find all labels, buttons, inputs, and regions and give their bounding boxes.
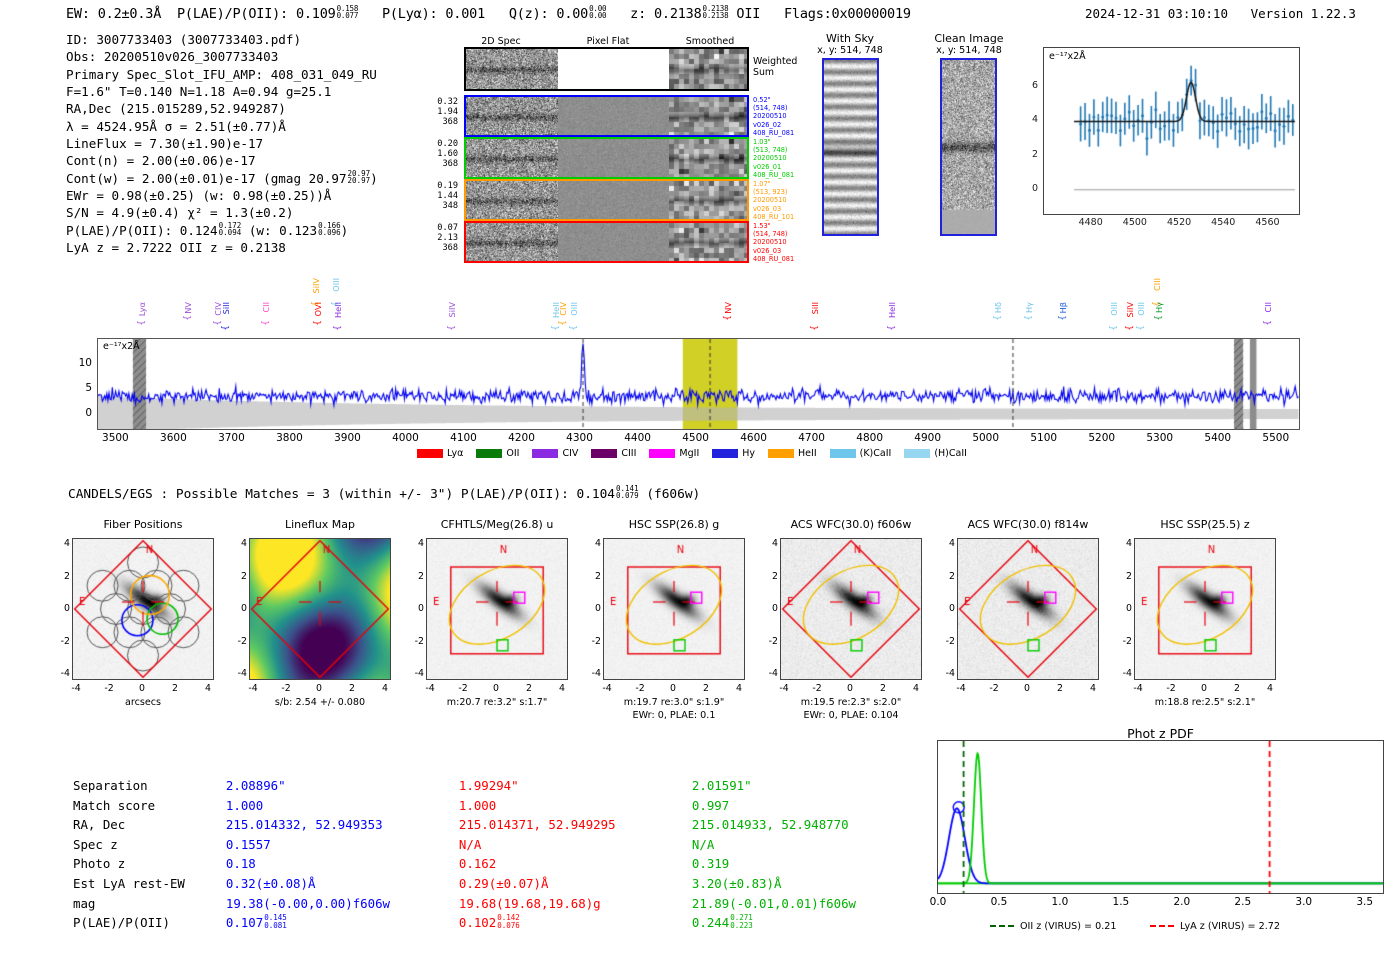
table-row: mag19.38(-0.00,0.00)f606w19.68(19.68,19.… xyxy=(72,894,924,914)
header-qz-lo: 0.00 xyxy=(589,11,606,20)
legend-swatch xyxy=(591,449,617,458)
row-right-value: 20200510 xyxy=(753,112,813,120)
spectrum-line-label: CIII xyxy=(1152,278,1162,291)
header-qz-value: 0.00 xyxy=(556,6,588,22)
table-row-label: Match score xyxy=(72,796,225,816)
cutout-y-tick: 2 xyxy=(241,571,247,582)
row-left-value: 0.07 xyxy=(424,223,458,233)
cutout-y-tick: -2 xyxy=(769,636,778,647)
cutout-image[interactable] xyxy=(72,538,214,680)
cutout-y-tick: 4 xyxy=(1126,538,1132,549)
cutout-x-tick: -4 xyxy=(418,683,442,694)
cutout-subtitle: m:19.7 re:3.0" s:1.9" xyxy=(591,697,757,708)
info-line-contw: Cont(w) = 2.00(±0.01)e-17 (gmag 20.9720.… xyxy=(66,170,378,187)
spec2d-row xyxy=(464,137,749,179)
row-pixelflat-image xyxy=(558,139,669,177)
spectrum-line-brace: { xyxy=(261,320,271,326)
info-line-lambda: λ = 4524.95Å σ = 2.51(±0.77)Å xyxy=(66,118,378,135)
row-pixelflat-image xyxy=(558,181,669,219)
row-right-value: 408_RU_081 xyxy=(753,171,813,179)
cutout-x-tick: -2 xyxy=(451,683,475,694)
cutout-y-tick: 2 xyxy=(1126,571,1132,582)
row-right-value: 20200510 xyxy=(753,154,813,162)
table-cell: 2.08896" xyxy=(225,776,458,796)
spectrum-line-brace: { xyxy=(331,301,341,307)
panel-title-pixelflat: Pixel Flat xyxy=(573,36,643,47)
info-line-id: ID: 3007733403 (3007733403.pdf) xyxy=(66,31,378,48)
spectrum-legend-item: OII xyxy=(476,448,519,459)
spec2d-row xyxy=(464,221,749,263)
cutout-y-tick: -2 xyxy=(238,636,247,647)
with-sky-image xyxy=(822,58,879,236)
cutout-title: Fiber Positions xyxy=(60,518,226,531)
cutout-y-ticks: 420-2-4 xyxy=(935,538,955,680)
spectrum-y-tick: 5 xyxy=(72,382,92,394)
header-z-species: OII xyxy=(736,6,760,22)
row-right-values: 1.03"(513, 748)20200510v026_01408_RU_081 xyxy=(753,138,813,179)
table-cell-lo: 0.076 xyxy=(497,921,520,930)
table-row-label: RA, Dec xyxy=(72,815,225,835)
spectrum-legend-item: HeII xyxy=(768,448,817,459)
cutout-y-tick: 0 xyxy=(949,603,955,614)
cutout-y-ticks: 420-2-4 xyxy=(581,538,601,680)
row-smoothed-image xyxy=(669,223,747,261)
spectrum-line-brace: { xyxy=(333,325,343,331)
table-row: P(LAE)/P(OII)0.1070.1450.0810.1020.1420.… xyxy=(72,913,924,933)
header-timestamp: 2024-12-31 03:10:10 xyxy=(1085,6,1228,21)
pdf-x-tick: 0.0 xyxy=(922,896,954,908)
info-line-plae: P(LAE)/P(OII): 0.1240.1720.094 (w: 0.123… xyxy=(66,222,378,239)
row-left-values: 0.321.94368 xyxy=(424,97,458,128)
row-left-value: 368 xyxy=(424,159,458,169)
cutout-x-ticks: -4-2024 xyxy=(957,683,1099,695)
cutout-x-tick: 0 xyxy=(130,683,154,694)
cutout-image[interactable] xyxy=(1134,538,1276,680)
table-cell: 0.29(±0.07)Å xyxy=(458,874,691,894)
row-smoothed-image xyxy=(669,139,747,177)
header-qz-label: Q(z): xyxy=(509,6,549,22)
spectrum-unit-label: e⁻¹⁷x2Å xyxy=(103,341,140,352)
table-cell: 1.99294" xyxy=(458,776,691,796)
cutout-x-tick: 0 xyxy=(1015,683,1039,694)
cutout-y-tick: -4 xyxy=(415,668,424,679)
cutout-x-ticks: -4-2024 xyxy=(1134,683,1276,695)
row-2dspec-image xyxy=(466,97,558,135)
cutout-y-tick: 2 xyxy=(418,571,424,582)
row-2dspec-image xyxy=(466,181,558,219)
pdf-x-tick: 3.0 xyxy=(1288,896,1320,908)
line-plot-x-tick: 4540 xyxy=(1209,217,1237,228)
cutout-y-ticks: 420-2-4 xyxy=(227,538,247,680)
legend-swatch xyxy=(904,449,930,458)
table-row: Separation2.08896"1.99294"2.01591" xyxy=(72,776,924,796)
cutout-x-tick: 4 xyxy=(196,683,220,694)
spectrum-line-brace: { xyxy=(1109,325,1119,331)
cutout-x-tick: 4 xyxy=(904,683,928,694)
match-table: Separation2.08896"1.99294"2.01591"Match … xyxy=(72,776,924,933)
cutout-subtitle: m:18.8 re:2.5" s:2.1" xyxy=(1122,697,1288,708)
legend-label: MgII xyxy=(679,448,699,459)
cutout-y-tick: 4 xyxy=(595,538,601,549)
table-cell: 0.319 xyxy=(691,854,924,874)
legend-label: (K)CaII xyxy=(860,448,892,459)
header-timestamp-version: 2024-12-31 03:10:10 Version 1.22.3 xyxy=(1085,6,1356,21)
table-row-label: Est LyA rest-EW xyxy=(72,874,225,894)
cutout-y-tick: -4 xyxy=(946,668,955,679)
legend-label: CIV xyxy=(562,448,578,459)
cutout-x-ticks: -4-2024 xyxy=(72,683,214,695)
row-right-value: 408_RU_081 xyxy=(753,129,813,137)
cutout-title: ACS WFC(30.0) f606w xyxy=(768,518,934,531)
info-line-specslot: Primary Spec_Slot_IFU_AMP: 408_031_049_R… xyxy=(66,66,378,83)
cutout-x-tick: 2 xyxy=(517,683,541,694)
info-plae-w-lo: 0.096 xyxy=(318,228,341,237)
header-flags: Flags:0x00000019 xyxy=(784,6,911,22)
spectrum-legend-item: Lyα xyxy=(417,448,463,459)
table-row: Match score1.0001.0000.997 xyxy=(72,796,924,816)
table-cell: 215.014371, 52.949295 xyxy=(458,815,691,835)
spectrum-line-brace: { xyxy=(183,315,193,321)
header-plae-label: P(LAE)/P(OII): xyxy=(177,6,288,22)
table-cell: 0.162 xyxy=(458,854,691,874)
cutout-y-ticks: 420-2-4 xyxy=(1112,538,1132,680)
legend-swatch xyxy=(417,449,443,458)
with-sky-subtitle: x, y: 514, 748 xyxy=(800,45,900,56)
cutout-subtitle-2: EWr: 0, PLAE: 0.104 xyxy=(768,710,934,721)
row-right-value: 408_RU_081 xyxy=(753,255,813,263)
spectrum-line-label: CIV xyxy=(558,302,568,316)
info-line-radec: RA,Dec (215.015289,52.949287) xyxy=(66,100,378,117)
cutout-subtitle: arcsecs xyxy=(60,697,226,708)
spectrum-line-label: HeII xyxy=(887,302,897,318)
cutout-y-tick: -2 xyxy=(592,636,601,647)
pdf-legend-item: LyA z (VIRUS) = 2.72 xyxy=(1150,921,1280,932)
info-plae-mid: (w: 0.123 xyxy=(249,223,317,238)
legend-swatch xyxy=(830,449,856,458)
clean-image-title: Clean Image xyxy=(914,32,1024,45)
weighted-sum-2dspec-image xyxy=(466,49,558,89)
spectrum-line-label: SiIV xyxy=(1125,302,1135,318)
candels-header: CANDELS/EGS : Possible Matches = 3 (with… xyxy=(68,485,700,502)
row-right-value: (513, 748) xyxy=(753,146,813,154)
cutout-x-tick: 0 xyxy=(307,683,331,694)
cutout-x-tick: -2 xyxy=(97,683,121,694)
spectrum-line-brace: { xyxy=(569,325,579,331)
cutout-x-tick: -2 xyxy=(805,683,829,694)
legend-label: HeII xyxy=(798,448,817,459)
cutout-y-ticks: 420-2-4 xyxy=(50,538,70,680)
spectrum-line-label: OIII xyxy=(1136,302,1146,316)
spectrum-line-brace: { xyxy=(221,325,231,331)
cutout-y-tick: 4 xyxy=(949,538,955,549)
legend-swatch xyxy=(532,449,558,458)
pdf-x-tick: 1.0 xyxy=(1044,896,1076,908)
spectrum-y-tick: 0 xyxy=(72,407,92,419)
table-cell: 3.20(±0.83)Å xyxy=(691,874,924,894)
cutout-x-tick: 2 xyxy=(163,683,187,694)
pdf-x-tick: 2.5 xyxy=(1227,896,1259,908)
spectrum-line-label: OIII xyxy=(569,302,579,316)
spectrum-line-brace: { xyxy=(1125,325,1135,331)
spectrum-line-label: Lyα xyxy=(137,302,147,316)
table-cell: 0.2440.2710.223 xyxy=(691,913,924,933)
cutout-y-tick: -2 xyxy=(415,636,424,647)
row-right-value: 1.03" xyxy=(753,138,813,146)
cutout-x-tick: -2 xyxy=(982,683,1006,694)
row-left-values: 0.072.13368 xyxy=(424,223,458,254)
cutout-y-tick: 0 xyxy=(595,603,601,614)
row-right-values: 0.52"(514, 748)20200510v026_02408_RU_081 xyxy=(753,96,813,137)
cutout-x-tick: -4 xyxy=(595,683,619,694)
cutout-x-tick: 4 xyxy=(1081,683,1105,694)
cutout-x-tick: -4 xyxy=(772,683,796,694)
spectrum-line-label: SiIV xyxy=(311,278,321,294)
table-row: Photo z0.180.1620.319 xyxy=(72,854,924,874)
spectrum-line-label: SiII xyxy=(810,302,820,314)
table-row-label: mag xyxy=(72,894,225,914)
table-cell: 0.1557 xyxy=(225,835,458,855)
cutout-x-tick: 2 xyxy=(871,683,895,694)
cutout-image[interactable] xyxy=(426,538,568,680)
row-right-value: 408_RU_101 xyxy=(753,213,813,221)
cutout-x-tick: -4 xyxy=(241,683,265,694)
with-sky-title: With Sky xyxy=(800,32,900,45)
row-left-value: 1.60 xyxy=(424,149,458,159)
spectrum-line-label: Hγ xyxy=(1024,302,1034,313)
row-right-values: 1.07"(513, 923)20200510v026_03408_RU_101 xyxy=(753,180,813,221)
cutout-title: ACS WFC(30.0) f814w xyxy=(945,518,1111,531)
header-z-lo: 0.2138 xyxy=(703,11,729,20)
cutout-y-tick: 0 xyxy=(772,603,778,614)
cutout-image[interactable] xyxy=(249,538,391,680)
table-cell: 21.89(-0.01,0.01)f606w xyxy=(691,894,924,914)
cutout-x-tick: 0 xyxy=(484,683,508,694)
panel-title-2dspec: 2D Spec xyxy=(466,36,536,47)
phot-z-pdf-title: Phot z PDF xyxy=(937,726,1384,741)
cutout-x-ticks: -4-2024 xyxy=(249,683,391,695)
spectrum-legend-item: CIII xyxy=(591,448,636,459)
header-version: Version 1.22.3 xyxy=(1251,6,1356,21)
candels-header-lo: 0.079 xyxy=(616,491,639,500)
cutout-x-tick: 0 xyxy=(661,683,685,694)
cutout-y-tick: 4 xyxy=(418,538,424,549)
pdf-legend-label: OII z (VIRUS) = 0.21 xyxy=(1020,921,1117,932)
info-contw-tail: ) xyxy=(370,171,378,186)
row-2dspec-image xyxy=(466,223,558,261)
cutout-title: CFHTLS/Meg(26.8) u xyxy=(414,518,580,531)
table-cell: 0.18 xyxy=(225,854,458,874)
cutout-x-tick: 4 xyxy=(727,683,751,694)
line-plot-unit-label: e⁻¹⁷x2Å xyxy=(1049,51,1086,62)
spectrum-line-brace: { xyxy=(1154,315,1164,321)
cutout-x-tick: -2 xyxy=(1159,683,1183,694)
cutout-y-tick: -4 xyxy=(592,668,601,679)
table-cell: 19.68(19.68,19.68)g xyxy=(458,894,691,914)
info-line-contn: Cont(n) = 2.00(±0.06)e-17 xyxy=(66,152,378,169)
spectrum-line-brace: { xyxy=(810,325,820,331)
spectrum-line-label: NV xyxy=(183,302,193,314)
spectrum-line-label: Hγ xyxy=(1154,302,1164,313)
legend-label: CIII xyxy=(621,448,636,459)
row-left-value: 2.13 xyxy=(424,233,458,243)
pdf-legend-label: LyA z (VIRUS) = 2.72 xyxy=(1180,921,1280,932)
header-plya: P(Lyα): 0.001 xyxy=(382,6,485,22)
cutout-y-tick: 0 xyxy=(1126,603,1132,614)
pdf-x-tick: 1.5 xyxy=(1105,896,1137,908)
row-pixelflat-image xyxy=(558,97,669,135)
spectrum-line-brace: { xyxy=(723,315,733,321)
cutout-x-tick: -4 xyxy=(64,683,88,694)
cutout-title: HSC SSP(25.5) z xyxy=(1122,518,1288,531)
detection-info-block: ID: 3007733403 (3007733403.pdf) Obs: 202… xyxy=(66,31,378,256)
table-cell: 0.1020.1420.076 xyxy=(458,913,691,933)
line-plot-x-tick: 4500 xyxy=(1121,217,1149,228)
row-2dspec-image xyxy=(466,139,558,177)
info-plae-lo: 0.094 xyxy=(219,228,242,237)
cutout-y-ticks: 420-2-4 xyxy=(758,538,778,680)
spectrum-line-label: CII xyxy=(261,302,271,313)
row-left-value: 0.32 xyxy=(424,97,458,107)
line-plot-y-tick: 0 xyxy=(1022,183,1038,194)
spectrum-line-label: Hβ xyxy=(1058,302,1068,313)
spectrum-legend-item: (H)CaII xyxy=(904,448,967,459)
row-right-value: v026_03 xyxy=(753,247,813,255)
table-cell: 0.32(±0.08)Å xyxy=(225,874,458,894)
pdf-legend-dash xyxy=(1150,925,1174,927)
row-right-value: 20200510 xyxy=(753,196,813,204)
spectrum-line-brace: { xyxy=(1136,325,1146,331)
legend-label: OII xyxy=(506,448,519,459)
cutout-x-tick: 4 xyxy=(373,683,397,694)
row-smoothed-image xyxy=(669,97,747,135)
cutout-y-tick: -2 xyxy=(946,636,955,647)
cutout-y-tick: 2 xyxy=(772,571,778,582)
cutout-y-tick: 4 xyxy=(772,538,778,549)
cutout-y-ticks: 420-2-4 xyxy=(404,538,424,680)
row-right-value: (514, 748) xyxy=(753,230,813,238)
row-left-value: 0.20 xyxy=(424,139,458,149)
spectrum-line-label: SiIV xyxy=(447,302,457,318)
cutout-x-tick: -2 xyxy=(274,683,298,694)
spectrum-line-brace: { xyxy=(311,301,321,307)
line-plot-x-tick: 4480 xyxy=(1077,217,1105,228)
table-cell: 215.014933, 52.948770 xyxy=(691,815,924,835)
row-left-value: 0.19 xyxy=(424,181,458,191)
cutout-x-tick: 0 xyxy=(838,683,862,694)
table-row: RA, Dec215.014332, 52.949353215.014371, … xyxy=(72,815,924,835)
header-plae-value: 0.109 xyxy=(296,6,336,22)
line-plot-y-tick: 6 xyxy=(1022,80,1038,91)
spectrum-legend-item: Hy xyxy=(712,448,755,459)
cutout-x-tick: 0 xyxy=(1192,683,1216,694)
legend-swatch xyxy=(649,449,675,458)
cutout-x-tick: -2 xyxy=(628,683,652,694)
table-cell: 2.01591" xyxy=(691,776,924,796)
cutout-x-tick: 4 xyxy=(1258,683,1282,694)
info-contw-lo: 20.97 xyxy=(348,176,371,185)
line-plot-x-tick: 4560 xyxy=(1253,217,1281,228)
table-row: Est LyA rest-EW0.32(±0.08)Å0.29(±0.07)Å3… xyxy=(72,874,924,894)
info-line-lineflux: LineFlux = 7.30(±1.90)e-17 xyxy=(66,135,378,152)
phot-z-pdf-plot xyxy=(937,740,1384,894)
spectrum-line-brace: { xyxy=(993,315,1003,321)
candels-header-main: CANDELS/EGS : Possible Matches = 3 (with… xyxy=(68,487,615,502)
spectrum-legend-item: MgII xyxy=(649,448,699,459)
weighted-sum-row xyxy=(464,47,749,91)
spectrum-line-brace: { xyxy=(558,320,568,326)
cutout-x-tick: -4 xyxy=(1126,683,1150,694)
cutout-image[interactable] xyxy=(603,538,745,680)
table-cell-lo: 0.223 xyxy=(730,921,753,930)
info-line-redshifts: LyA z = 2.7222 OII z = 0.2138 xyxy=(66,239,378,256)
info-line-obs: Obs: 20200510v026_3007733403 xyxy=(66,48,378,65)
weighted-sum-label: Weighted Sum xyxy=(753,56,797,78)
spectrum-line-label: OIII xyxy=(1109,302,1119,316)
row-right-value: 0.52" xyxy=(753,96,813,104)
spectrum-line-label: Hδ xyxy=(993,302,1003,313)
line-plot-x-tick: 4520 xyxy=(1165,217,1193,228)
row-left-value: 348 xyxy=(424,201,458,211)
info-contw-main: Cont(w) = 2.00(±0.01)e-17 (gmag 20.97 xyxy=(66,171,347,186)
line-plot-y-tick: 2 xyxy=(1022,149,1038,160)
legend-swatch xyxy=(768,449,794,458)
cutout-y-tick: 2 xyxy=(64,571,70,582)
clean-image-subtitle: x, y: 514, 748 xyxy=(914,45,1024,56)
row-right-value: 20200510 xyxy=(753,238,813,246)
cutout-title: HSC SSP(26.8) g xyxy=(591,518,757,531)
panel-title-smoothed: Smoothed xyxy=(675,36,745,47)
spectrum-line-brace: { xyxy=(887,325,897,331)
emission-line-fit-plot: e⁻¹⁷x2Å xyxy=(1043,47,1300,215)
cutout-subtitle: m:19.5 re:2.3" s:2.0" xyxy=(768,697,934,708)
cutout-y-tick: -4 xyxy=(1123,668,1132,679)
cutout-y-tick: -4 xyxy=(61,668,70,679)
cutout-image[interactable] xyxy=(957,538,1099,680)
row-smoothed-image xyxy=(669,181,747,219)
row-left-values: 0.191.44348 xyxy=(424,181,458,212)
row-left-value: 368 xyxy=(424,243,458,253)
table-row-label: Photo z xyxy=(72,854,225,874)
cutout-y-tick: 0 xyxy=(241,603,247,614)
header-summary-line: EW: 0.2±0.3Å P(LAE)/P(OII): 0.1090.1580.… xyxy=(66,5,911,22)
candels-header-tail: (f606w) xyxy=(646,487,700,502)
pdf-legend-item: OII z (VIRUS) = 0.21 xyxy=(990,921,1117,932)
cutout-title: Lineflux Map xyxy=(237,518,403,531)
weighted-sum-smoothed-image xyxy=(669,49,747,89)
row-right-value: v026_01 xyxy=(753,163,813,171)
cutout-x-tick: 2 xyxy=(1048,683,1072,694)
cutout-y-tick: -4 xyxy=(769,668,778,679)
pdf-x-tick: 3.5 xyxy=(1349,896,1381,908)
table-cell-lo: 0.081 xyxy=(264,921,287,930)
table-cell: 215.014332, 52.949353 xyxy=(225,815,458,835)
spectrum-line-brace: { xyxy=(551,325,561,331)
row-left-values: 0.201.60368 xyxy=(424,139,458,170)
pdf-x-tick: 2.0 xyxy=(1166,896,1198,908)
header-z-value: 0.2138 xyxy=(654,6,702,22)
cutout-image[interactable] xyxy=(780,538,922,680)
header-ew: EW: 0.2±0.3Å xyxy=(66,6,161,22)
row-pixelflat-image xyxy=(558,223,669,261)
cutout-subtitle: m:20.7 re:3.2" s:1.7" xyxy=(414,697,580,708)
spectrum-line-label: SiII xyxy=(221,302,231,314)
cutout-x-ticks: -4-2024 xyxy=(603,683,745,695)
row-right-values: 1.53"(514, 748)20200510v026_03408_RU_081 xyxy=(753,222,813,263)
spectrum-legend-item: CIV xyxy=(532,448,578,459)
cutout-y-tick: 4 xyxy=(64,538,70,549)
pdf-legend-dash xyxy=(990,925,1014,927)
info-plae-tail: ) xyxy=(341,223,349,238)
